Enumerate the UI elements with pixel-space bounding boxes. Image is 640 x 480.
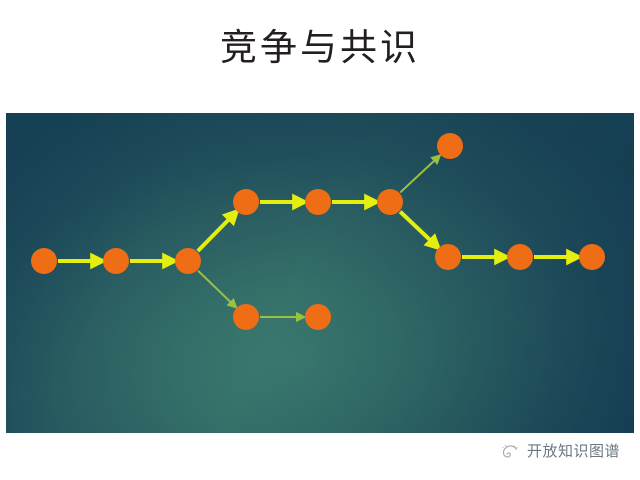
watermark: 开放知识图谱 bbox=[501, 442, 620, 461]
page-title: 竞争与共识 bbox=[0, 24, 640, 74]
okg-swirl-logo-icon bbox=[501, 442, 520, 461]
watermark-label: 开放知识图谱 bbox=[527, 442, 620, 461]
diagram-panel bbox=[6, 113, 634, 433]
graph-node bbox=[435, 244, 461, 270]
graph-node bbox=[305, 189, 331, 215]
graph-node bbox=[31, 248, 57, 274]
graph-node bbox=[103, 248, 129, 274]
graph-edge bbox=[400, 158, 437, 193]
graph-node bbox=[305, 304, 331, 330]
graph-node bbox=[175, 248, 201, 274]
node-layer bbox=[31, 133, 605, 330]
graph-edge bbox=[198, 271, 234, 305]
graph-node bbox=[233, 304, 259, 330]
blockchain-graph bbox=[6, 113, 634, 433]
graph-node bbox=[233, 189, 259, 215]
graph-edge bbox=[400, 212, 436, 246]
graph-edge bbox=[198, 214, 234, 251]
edge-layer bbox=[58, 158, 575, 317]
graph-node bbox=[579, 244, 605, 270]
graph-node bbox=[437, 133, 463, 159]
graph-node bbox=[377, 189, 403, 215]
graph-node bbox=[507, 244, 533, 270]
